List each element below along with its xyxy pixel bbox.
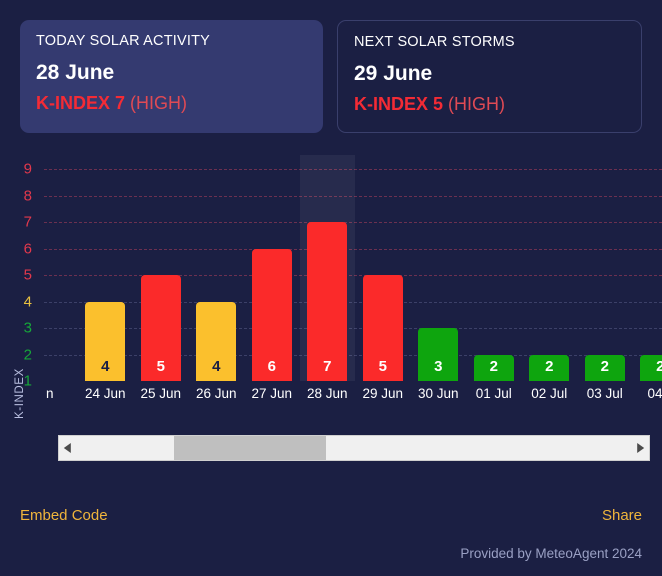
scrollbar-thumb[interactable]: [174, 436, 326, 460]
y-axis-tick-9: 9: [24, 161, 32, 178]
card-title: NEXT SOLAR STORMS: [354, 35, 625, 51]
y-axis-tick-6: 6: [24, 240, 32, 257]
summary-cards: TODAY SOLAR ACTIVITY 28 June K-INDEX 7 (…: [20, 20, 642, 133]
bar-value-label: 2: [490, 358, 498, 381]
provided-by-label: Provided by MeteoAgent 2024: [460, 546, 642, 561]
solar-activity-widget: TODAY SOLAR ACTIVITY 28 June K-INDEX 7 (…: [0, 0, 662, 576]
chart-horizontal-scrollbar[interactable]: [58, 435, 650, 461]
bar-value-label: 2: [656, 358, 662, 381]
bar-value-label: 6: [268, 358, 276, 381]
bar-01-jul[interactable]: 2: [474, 355, 514, 382]
bar-29-jun[interactable]: 5: [363, 275, 403, 381]
x-axis-tick-23-jun: n: [46, 381, 54, 407]
bar-value-label: 3: [434, 358, 442, 381]
x-axis-tick-28-jun: 28 Jun: [307, 381, 348, 407]
x-axis-tick-03-jul: 03 Jul: [587, 381, 623, 407]
bar-value-label: 4: [212, 358, 220, 381]
chart-plot-area: 45467532222: [44, 155, 662, 381]
share-link[interactable]: Share: [602, 507, 642, 524]
bar-04-jul[interactable]: 2: [640, 355, 662, 382]
x-axis-tick-01-jul: 01 Jul: [476, 381, 512, 407]
k-index-bar-chart: 987654321 45467532222 n24 Jun25 Jun26 Ju…: [0, 155, 662, 435]
card-k-index: K-INDEX 5 (HIGH): [354, 95, 625, 115]
bar-value-label: 4: [101, 358, 109, 381]
y-axis-tick-3: 3: [24, 320, 32, 337]
chart-y-axis: 987654321: [0, 155, 44, 381]
x-axis-tick-24-jun: 24 Jun: [85, 381, 126, 407]
bar-value-label: 7: [323, 358, 331, 381]
scroll-left-arrow-icon[interactable]: [59, 436, 77, 460]
bar-26-jun[interactable]: 4: [196, 302, 236, 382]
card-k-index-value: K-INDEX 5: [354, 94, 443, 114]
card-k-index-level: (HIGH): [448, 94, 505, 114]
x-axis-tick-02-jul: 02 Jul: [531, 381, 567, 407]
y-axis-tick-4: 4: [24, 293, 32, 310]
x-axis-tick-26-jun: 26 Jun: [196, 381, 237, 407]
chart-y-axis-title: K-INDEX: [14, 368, 26, 419]
y-axis-tick-8: 8: [24, 187, 32, 204]
x-axis-tick-29-jun: 29 Jun: [362, 381, 403, 407]
card-date: 29 June: [354, 62, 625, 85]
x-axis-tick-30-jun: 30 Jun: [418, 381, 459, 407]
scroll-right-arrow-icon[interactable]: [631, 436, 649, 460]
bar-value-label: 5: [379, 358, 387, 381]
bar-24-jun[interactable]: 4: [85, 302, 125, 382]
card-today-solar-activity[interactable]: TODAY SOLAR ACTIVITY 28 June K-INDEX 7 (…: [20, 20, 323, 133]
chart-x-axis: n24 Jun25 Jun26 Jun27 Jun28 Jun29 Jun30 …: [44, 381, 662, 407]
card-next-solar-storms[interactable]: NEXT SOLAR STORMS 29 June K-INDEX 5 (HIG…: [337, 20, 642, 133]
bar-value-label: 5: [157, 358, 165, 381]
x-axis-tick-25-jun: 25 Jun: [140, 381, 181, 407]
bar-03-jul[interactable]: 2: [585, 355, 625, 382]
bar-28-jun[interactable]: 7: [307, 222, 347, 381]
y-axis-tick-7: 7: [24, 214, 32, 231]
card-k-index-value: K-INDEX 7: [36, 93, 125, 113]
bar-30-jun[interactable]: 3: [418, 328, 458, 381]
chart-bars: 45467532222: [44, 155, 662, 381]
embed-code-link[interactable]: Embed Code: [20, 507, 108, 524]
bar-value-label: 2: [545, 358, 553, 381]
bar-02-jul[interactable]: 2: [529, 355, 569, 382]
y-axis-tick-2: 2: [24, 346, 32, 363]
y-axis-tick-5: 5: [24, 267, 32, 284]
card-title: TODAY SOLAR ACTIVITY: [36, 34, 307, 50]
card-k-index: K-INDEX 7 (HIGH): [36, 94, 307, 114]
scrollbar-track[interactable]: [77, 436, 631, 460]
card-k-index-level: (HIGH): [130, 93, 187, 113]
x-axis-tick-04-jul: 04 J: [647, 381, 662, 407]
bar-27-jun[interactable]: 6: [252, 249, 292, 382]
bar-value-label: 2: [601, 358, 609, 381]
bar-25-jun[interactable]: 5: [141, 275, 181, 381]
x-axis-tick-27-jun: 27 Jun: [251, 381, 292, 407]
card-date: 28 June: [36, 61, 307, 84]
